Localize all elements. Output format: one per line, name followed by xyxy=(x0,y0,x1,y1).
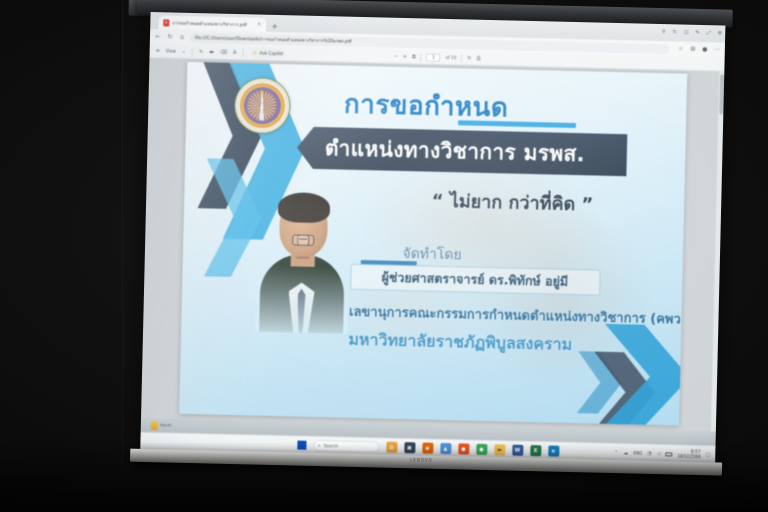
search-icon[interactable]: ⚲ xyxy=(662,29,666,35)
dark-room-background: P การขอกำหนดตำแหน่งทางวิชาการ.pdf × + ⚲ … xyxy=(0,0,768,512)
folder-icon xyxy=(151,421,158,430)
presenter-portrait xyxy=(255,182,351,334)
split-screen-icon[interactable]: ⤢ xyxy=(707,30,711,36)
back-icon[interactable]: ← xyxy=(154,33,162,40)
annotate-icon[interactable]: ✎ xyxy=(695,30,699,36)
refresh-icon[interactable]: ↻ xyxy=(166,33,174,40)
page-total-label: of 10 xyxy=(446,55,457,60)
sparkle-icon: ✨ xyxy=(252,50,257,56)
pdf-view-button[interactable]: View xyxy=(166,48,176,53)
chevron-down-icon[interactable]: ⌄ xyxy=(182,48,186,54)
author-name: ผู้ช่วยศาสตราจารย์ ดร.พิทักษ์ อยู่มี xyxy=(381,268,568,292)
wall-seam xyxy=(122,0,123,512)
projector-screen: P การขอกำหนดตำแหน่งทางวิชาการ.pdf × + ⚲ … xyxy=(140,0,726,482)
portrait-fade-overlay xyxy=(255,182,351,334)
text-tool-icon[interactable]: A xyxy=(233,49,237,55)
fit-page-icon[interactable]: ⧉ xyxy=(412,54,416,60)
omnibox-actions: ☆ ⊞ ● ⋯ xyxy=(677,45,721,53)
projected-screen-surface: P การขอกำหนดตำแหน่งทางวิชาการ.pdf × + ⚲ … xyxy=(140,12,725,463)
toolbar-divider xyxy=(421,53,422,61)
ask-copilot-button[interactable]: ✨ Ask Copilot xyxy=(249,48,286,58)
desktop-icon-this-pc[interactable]: This PC xyxy=(151,419,177,433)
university-seal-icon xyxy=(233,77,290,134)
highlight-icon[interactable]: ▬ xyxy=(209,49,214,55)
refresh-icon[interactable]: ↻ xyxy=(673,29,677,35)
slide-tagline: “ ไม่ยาก กว่าที่คิด ” xyxy=(431,186,593,219)
home-icon[interactable]: ⌂ xyxy=(178,34,186,41)
zoom-in-icon[interactable]: + xyxy=(403,53,407,59)
toolbar-divider xyxy=(192,47,193,55)
close-icon[interactable]: × xyxy=(257,22,261,28)
pdf-page-controls: − + ⧉ 1 of 10 ↻ ⎙ xyxy=(394,52,481,62)
pdf-page-viewport[interactable]: การขอกำหนด ตำแหน่งทางวิชาการ มรพส. “ ไม่… xyxy=(141,58,724,431)
window-controls: ⚲ ↻ ◫ ✎ ⤢ ⚙ xyxy=(662,25,723,40)
print-icon[interactable]: ⎙ xyxy=(476,55,480,61)
desktop-icon-label: This PC xyxy=(160,424,172,428)
profile-icon[interactable]: ● xyxy=(701,46,709,53)
address-bar-value: file:///C:/Users/user/Downloads/การขอกำห… xyxy=(195,34,352,45)
rotate-icon[interactable]: ↻ xyxy=(467,55,471,61)
slide-title-line-2: ตำแหน่งทางวิชาการ มรพส. xyxy=(325,132,586,171)
slide-title-banner: ตำแหน่งทางวิชาการ มรพส. xyxy=(296,126,627,176)
zoom-out-icon[interactable]: − xyxy=(394,53,398,59)
reading-view-icon[interactable]: ◫ xyxy=(684,30,689,36)
favorite-icon[interactable]: ☆ xyxy=(677,45,685,52)
tab-title: การขอกำหนดตำแหน่งทางวิชาการ.pdf xyxy=(172,19,247,28)
browser-window: P การขอกำหนดตำแหน่งทางวิชาการ.pdf × + ⚲ … xyxy=(140,12,725,463)
organization-name: มหาวิทยาลัยราชภัฏพิบูลสงคราม xyxy=(348,328,572,358)
new-tab-button[interactable]: + xyxy=(271,22,278,32)
erase-icon[interactable]: ⌫ xyxy=(220,49,227,55)
toolbar-divider xyxy=(461,54,462,62)
pdf-menu-icon[interactable]: ≡ xyxy=(156,48,160,54)
collections-icon[interactable]: ⊞ xyxy=(689,46,697,53)
pdf-scrollbar-thumb[interactable] xyxy=(719,74,724,114)
browser-menu-icon[interactable]: ⋯ xyxy=(713,46,721,53)
page-number-input[interactable]: 1 xyxy=(427,53,441,61)
pdf-file-icon: P xyxy=(163,19,169,26)
ask-copilot-label: Ask Copilot xyxy=(260,51,284,57)
presentation-slide: การขอกำหนด ตำแหน่งทางวิชาการ มรพส. “ ไม่… xyxy=(179,62,687,426)
floor-shadow xyxy=(0,442,768,512)
draw-icon[interactable]: ✎ xyxy=(199,49,203,55)
settings-icon[interactable]: ⚙ xyxy=(718,30,723,36)
toolbar-divider xyxy=(242,49,243,57)
